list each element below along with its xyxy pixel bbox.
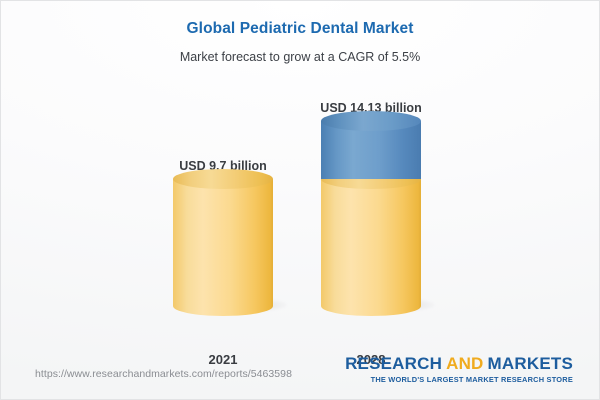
cylinder-body bbox=[321, 179, 421, 306]
logo-word-research: RESEARCH bbox=[345, 354, 442, 373]
logo-word-markets: MARKETS bbox=[488, 354, 573, 373]
chart-footer: https://www.researchandmarkets.com/repor… bbox=[1, 341, 599, 399]
source-url[interactable]: https://www.researchandmarkets.com/repor… bbox=[35, 368, 292, 380]
chart-plot-area: USD 9.7 billion 2021 USD 14.13 billion bbox=[1, 86, 600, 341]
chart-title: Global Pediatric Dental Market bbox=[1, 19, 599, 39]
logo-wordmark: RESEARCHANDMARKETS bbox=[345, 354, 573, 373]
bar-segment-base-2028 bbox=[321, 179, 421, 306]
chart-subtitle: Market forecast to grow at a CAGR of 5.5… bbox=[1, 48, 599, 66]
cylinder-top-cap bbox=[173, 169, 273, 189]
research-and-markets-logo[interactable]: RESEARCHANDMARKETS THE WORLD'S LARGEST M… bbox=[345, 354, 573, 385]
chart-header: Global Pediatric Dental Market Market fo… bbox=[1, 1, 599, 66]
cylinder-body bbox=[173, 179, 273, 306]
logo-word-and: AND bbox=[442, 354, 487, 373]
bar-cylinder-2028[interactable] bbox=[321, 121, 421, 306]
bar-cylinder-2021[interactable] bbox=[173, 179, 273, 306]
logo-tagline: THE WORLD'S LARGEST MARKET RESEARCH STOR… bbox=[345, 374, 573, 385]
chart-card: Global Pediatric Dental Market Market fo… bbox=[0, 0, 600, 400]
cylinder-top-cap bbox=[321, 111, 421, 131]
bar-segment-growth-2028 bbox=[321, 121, 421, 179]
bar-segment-base-2021 bbox=[173, 179, 273, 306]
